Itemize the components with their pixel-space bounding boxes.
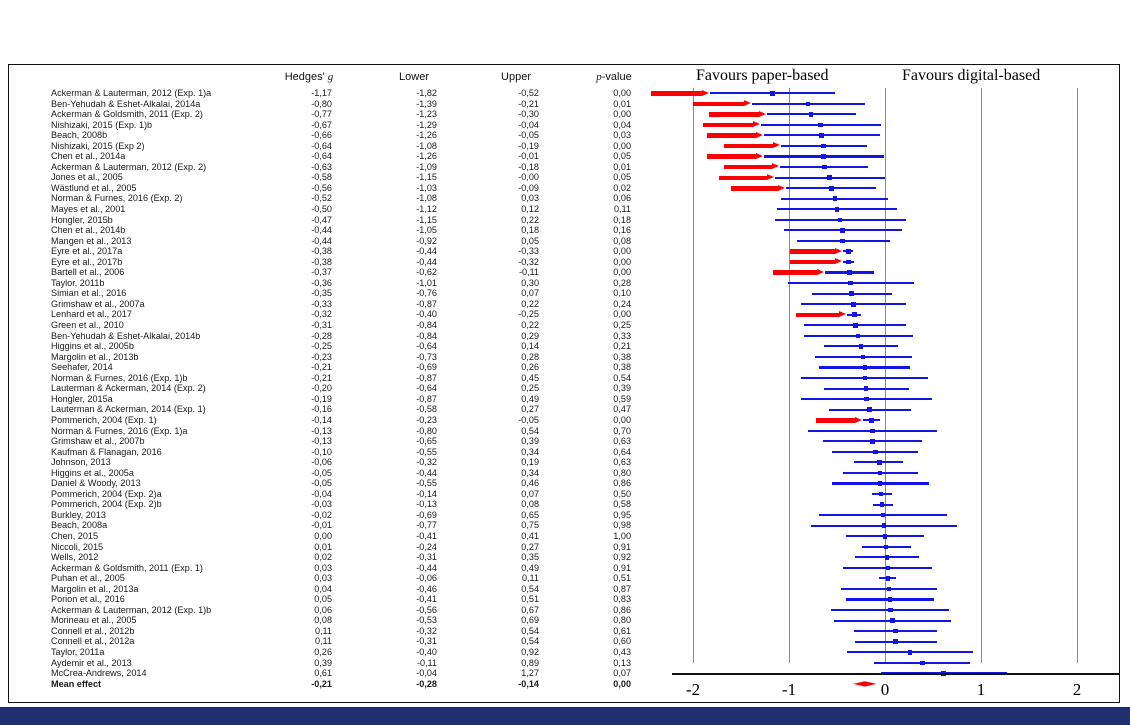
cell-hedges-g: -0,03 (264, 499, 332, 510)
effect-size-marker (867, 407, 872, 412)
x-axis-line (672, 673, 1119, 675)
table-row: Puhan et al., 20050,03-0,060,110,51 (9, 573, 672, 584)
table-row-mean-effect: Mean effect-0,21-0,28-0,140,00 (9, 679, 672, 690)
cell-upper: 0,69 (471, 615, 539, 626)
cell-hedges-g: -1,17 (264, 88, 332, 99)
effect-size-marker (881, 513, 886, 518)
cell-upper: 0,45 (471, 373, 539, 384)
cell-p-value: 0,05 (569, 151, 631, 162)
effect-size-marker (822, 165, 827, 170)
effect-size-marker (886, 576, 891, 581)
effect-size-marker (880, 502, 885, 507)
plot-row (672, 457, 1119, 468)
cell-p-value: 0,00 (569, 267, 631, 278)
cell-lower: -0,92 (369, 236, 437, 247)
cell-hedges-g: -0,37 (264, 267, 332, 278)
plot-row (672, 584, 1119, 595)
cell-upper: 0,11 (471, 573, 539, 584)
cell-upper: 0,41 (471, 531, 539, 542)
table-row: Pommerich, 2004 (Exp. 2)b-0,03-0,130,080… (9, 499, 672, 510)
plot-row-mean-effect (672, 679, 1119, 690)
plot-row (672, 626, 1119, 637)
cell-upper: 0,29 (471, 331, 539, 342)
cell-upper: -0,52 (471, 88, 539, 99)
table-row: Grimshaw et al., 2007b-0,13-0,650,390,63 (9, 436, 672, 447)
study-label: Chen, 2015 (51, 531, 98, 542)
study-label: Grimshaw et al., 2007a (51, 299, 145, 310)
plot-row (672, 478, 1119, 489)
cell-upper: -0,11 (471, 267, 539, 278)
table-row: Margolin et al., 2013a0,04-0,460,540,87 (9, 584, 672, 595)
plot-row (672, 183, 1119, 194)
cell-p-value: 0,18 (569, 215, 631, 226)
plot-row (672, 288, 1119, 299)
table-row: Pommerich, 2004 (Exp. 2)a-0,04-0,140,070… (9, 489, 672, 500)
cell-upper: 0,14 (471, 341, 539, 352)
cell-upper: 0,07 (471, 489, 539, 500)
table-row: Daniel & Woody, 2013-0,05-0,550,460,86 (9, 478, 672, 489)
cell-hedges-g: -0,21 (264, 373, 332, 384)
tick-label: 1 (977, 680, 986, 700)
significance-arrow-icon (773, 269, 824, 276)
study-label: Wästlund et al., 2005 (51, 183, 136, 194)
cell-hedges-g: -0,04 (264, 489, 332, 500)
plot-row (672, 320, 1119, 331)
effect-size-marker (886, 566, 891, 571)
cell-p-value: 0,38 (569, 362, 631, 373)
cell-upper: 0,30 (471, 278, 539, 289)
plot-row (672, 204, 1119, 215)
cell-p-value: 0,54 (569, 373, 631, 384)
study-label: Seehafer, 2014 (51, 362, 113, 373)
study-label: Lauterman & Ackerman, 2014 (Exp. 2) (51, 383, 206, 394)
cell-lower: -1,05 (369, 225, 437, 236)
plot-row (672, 225, 1119, 236)
study-label: Bartell et al., 2006 (51, 267, 124, 278)
cell-p-value: 0,16 (569, 225, 631, 236)
plot-row (672, 99, 1119, 110)
plot-row (672, 278, 1119, 289)
significance-arrow-icon (707, 153, 763, 160)
cell-lower: -0,11 (369, 658, 437, 669)
cell-p-value: 0,05 (569, 172, 631, 183)
cell-lower: -0,58 (369, 404, 437, 415)
cell-hedges-g: -0,13 (264, 436, 332, 447)
table-row: Higgins et al., 2005a-0,05-0,440,340,80 (9, 468, 672, 479)
effect-size-marker (882, 523, 887, 528)
significance-arrow-icon (724, 142, 780, 149)
study-label: Taylor, 2011a (51, 647, 104, 658)
tick-label: 2 (1073, 680, 1082, 700)
study-label: Ackerman & Goldsmith, 2011 (Exp. 1) (51, 563, 203, 574)
plot-row (672, 552, 1119, 563)
table-row: Norman & Furnes, 2016 (Exp. 1)a-0,13-0,8… (9, 426, 672, 437)
plot-row (672, 605, 1119, 616)
plot-row (672, 109, 1119, 120)
study-label: Pommerich, 2004 (Exp. 2)b (51, 499, 162, 510)
favours-paper-label: Favours paper-based (696, 67, 829, 85)
table-row: Ackerman & Lauterman, 2012 (Exp. 1)b0,06… (9, 605, 672, 616)
effect-size-marker (887, 587, 892, 592)
cell-lower: -0,87 (369, 373, 437, 384)
effect-size-marker (818, 123, 823, 128)
cell-hedges-g: -0,50 (264, 204, 332, 215)
plot-row (672, 573, 1119, 584)
table-body: Ackerman & Lauterman, 2012 (Exp. 1)a-1,1… (9, 88, 672, 689)
cell-hedges-g: -0,77 (264, 109, 332, 120)
effect-size-marker (920, 661, 925, 666)
cell-hedges-g: -0,23 (264, 352, 332, 363)
cell-p-value: 0,28 (569, 278, 631, 289)
effect-size-marker (863, 376, 868, 381)
study-label: Johnson, 2013 (51, 457, 111, 468)
study-label: Porion et al., 2016 (51, 594, 125, 605)
study-label: Ben-Yehudah & Eshet-Alkalai, 2014b (51, 331, 200, 342)
cell-p-value: 0,50 (569, 489, 631, 500)
significance-arrow-icon (816, 417, 862, 424)
column-header-p-value: p-value (569, 71, 659, 83)
column-header-lower: Lower (369, 71, 459, 83)
study-label: Higgins et al., 2005b (51, 341, 134, 352)
cell-hedges-g: -0,01 (264, 520, 332, 531)
significance-arrow-icon (703, 121, 760, 128)
cell-hedges-g: -0,05 (264, 478, 332, 489)
study-label: Connell et al., 2012b (51, 626, 134, 637)
study-label: Margolin et al., 2013b (51, 352, 138, 363)
table-row: Green et al., 2010-0,31-0,840,220,25 (9, 320, 672, 331)
table-row: Ackerman & Goldsmith, 2011 (Exp. 2)-0,77… (9, 109, 672, 120)
plot-row (672, 246, 1119, 257)
plot-row (672, 615, 1119, 626)
study-label: Eyre et al., 2017b (51, 257, 122, 268)
plot-row (672, 236, 1119, 247)
table-row: Porion et al., 20160,05-0,410,510,83 (9, 594, 672, 605)
cell-hedges-g: -0,21 (264, 362, 332, 373)
cell-upper: 0,22 (471, 299, 539, 310)
cell-upper: 0,54 (471, 584, 539, 595)
plot-row (672, 531, 1119, 542)
cell-p-value: 0,01 (569, 99, 631, 110)
table-row: Higgins et al., 2005b-0,25-0,640,140,21 (9, 341, 672, 352)
cell-hedges-g: 0,39 (264, 658, 332, 669)
cell-lower: -0,77 (369, 520, 437, 531)
cell-lower: -0,65 (369, 436, 437, 447)
plot-row (672, 510, 1119, 521)
cell-upper: 0,22 (471, 320, 539, 331)
slide-footer-bar (0, 707, 1130, 725)
cell-p-value: 0,13 (569, 658, 631, 669)
cell-upper: -0,33 (471, 246, 539, 257)
cell-p-value: 0,00 (569, 309, 631, 320)
effect-size-marker (852, 312, 857, 317)
title-bar: Effect sizes: Between-participants desig… (0, 0, 1130, 62)
cell-lower: -1,29 (369, 120, 437, 131)
table-row: Johnson, 2013-0,06-0,320,190,63 (9, 457, 672, 468)
confidence-interval-series (672, 88, 1119, 689)
cell-upper: -0,01 (471, 151, 539, 162)
tick-label: 0 (881, 680, 890, 700)
plot-row (672, 352, 1119, 363)
effect-size-marker (863, 365, 868, 370)
study-label: Ackerman & Lauterman, 2012 (Exp. 1)b (51, 605, 211, 616)
cell-p-value: 0,00 (569, 679, 631, 690)
table-row: Nishizaki, 2015 (Exp 2)-0,64-1,08-0,190,… (9, 141, 672, 152)
cell-hedges-g: 0,02 (264, 552, 332, 563)
cell-p-value: 0,80 (569, 468, 631, 479)
cell-p-value: 0,92 (569, 552, 631, 563)
effect-size-marker (848, 281, 853, 286)
table-row: Hongler, 2015a-0,19-0,870,490,59 (9, 394, 672, 405)
cell-hedges-g: -0,32 (264, 309, 332, 320)
cell-hedges-g: 0,61 (264, 668, 332, 679)
cell-upper: 0,27 (471, 542, 539, 553)
cell-upper: 0,35 (471, 552, 539, 563)
cell-p-value: 0,07 (569, 668, 631, 679)
cell-hedges-g: -0,44 (264, 236, 332, 247)
cell-lower: -0,41 (369, 594, 437, 605)
cell-upper: 0,25 (471, 383, 539, 394)
cell-upper: -0,21 (471, 99, 539, 110)
cell-lower: -0,73 (369, 352, 437, 363)
significance-arrow-icon (719, 174, 774, 181)
cell-p-value: 0,91 (569, 563, 631, 574)
cell-lower: -0,62 (369, 267, 437, 278)
plot-row (672, 120, 1119, 131)
table-row: Kaufman & Flanagan, 2016-0,10-0,550,340,… (9, 447, 672, 458)
study-label: Chen et al., 2014b (51, 225, 125, 236)
table-row: Chen, 20150,00-0,410,411,00 (9, 531, 672, 542)
plot-row (672, 468, 1119, 479)
cell-hedges-g: -0,05 (264, 468, 332, 479)
study-label: Lauterman & Ackerman, 2014 (Exp. 1) (51, 404, 206, 415)
table-row: Wästlund et al., 2005-0,56-1,03-0,090,02 (9, 183, 672, 194)
cell-lower: -0,53 (369, 615, 437, 626)
cell-p-value: 0,24 (569, 299, 631, 310)
cell-lower: -0,40 (369, 309, 437, 320)
table-row: Ackerman & Lauterman, 2012 (Exp. 2)-0,63… (9, 162, 672, 173)
cell-lower: -0,40 (369, 647, 437, 658)
cell-upper: 0,75 (471, 520, 539, 531)
effect-size-marker (873, 450, 878, 455)
cell-upper: -0,32 (471, 257, 539, 268)
table-row: Simian et al., 2016-0,35-0,760,070,10 (9, 288, 672, 299)
cell-upper: 0,49 (471, 563, 539, 574)
cell-lower: -0,56 (369, 605, 437, 616)
cell-upper: -0,19 (471, 141, 539, 152)
study-label: Ben-Yehudah & Eshet-Alkalai, 2014a (51, 99, 200, 110)
plot-direction-labels: Favours paper-based Favours digital-base… (672, 67, 1119, 89)
cell-upper: -0,14 (471, 679, 539, 690)
cell-lower: -0,84 (369, 331, 437, 342)
cell-hedges-g: -0,33 (264, 299, 332, 310)
plot-row (672, 193, 1119, 204)
effect-size-marker (827, 175, 832, 180)
study-label: Beach, 2008a (51, 520, 107, 531)
plot-row (672, 499, 1119, 510)
plot-row (672, 331, 1119, 342)
significance-arrow-icon (790, 248, 842, 255)
plot-row (672, 257, 1119, 268)
cell-upper: 0,54 (471, 426, 539, 437)
table-row: Wells, 20120,02-0,310,350,92 (9, 552, 672, 563)
cell-lower: -0,14 (369, 489, 437, 500)
table-row: Bartell et al., 2006-0,37-0,62-0,110,00 (9, 267, 672, 278)
column-header-hedges-g: Hedges' g (264, 71, 354, 83)
study-label: McCrea-Andrews, 2014 (51, 668, 147, 679)
study-label: Grimshaw et al., 2007b (51, 436, 145, 447)
cell-p-value: 0,47 (569, 404, 631, 415)
cell-p-value: 0,33 (569, 331, 631, 342)
cell-hedges-g: -0,38 (264, 257, 332, 268)
study-label: Puhan et al., 2005 (51, 573, 125, 584)
effect-size-marker (885, 555, 890, 560)
effect-size-marker (859, 344, 864, 349)
study-label: Norman & Furnes, 2016 (Exp. 2) (51, 193, 182, 204)
study-label: Wells, 2012 (51, 552, 98, 563)
cell-hedges-g: 0,11 (264, 636, 332, 647)
cell-upper: 0,51 (471, 594, 539, 605)
table-row: Ben-Yehudah & Eshet-Alkalai, 2014b-0,28-… (9, 331, 672, 342)
cell-hedges-g: -0,36 (264, 278, 332, 289)
plot-row (672, 373, 1119, 384)
plot-row (672, 436, 1119, 447)
cell-hedges-g: -0,35 (264, 288, 332, 299)
cell-hedges-g: -0,31 (264, 320, 332, 331)
effect-size-marker (856, 334, 861, 339)
table-row: Lenhard et al., 2017-0,32-0,40-0,250,00 (9, 309, 672, 320)
cell-lower: -0,31 (369, 636, 437, 647)
cell-hedges-g: 0,00 (264, 531, 332, 542)
plot-row (672, 215, 1119, 226)
effect-size-marker (888, 597, 893, 602)
cell-upper: 0,54 (471, 626, 539, 637)
cell-hedges-g: -0,02 (264, 510, 332, 521)
table-row: Eyre et al., 2017a-0,38-0,44-0,330,00 (9, 246, 672, 257)
cell-lower: -1,03 (369, 183, 437, 194)
plot-row (672, 647, 1119, 658)
study-label: Nishizaki, 2015 (Exp. 1)b (51, 120, 152, 131)
plot-row (672, 141, 1119, 152)
cell-p-value: 0,01 (569, 162, 631, 173)
cell-hedges-g: -0,10 (264, 447, 332, 458)
effect-size-marker (877, 460, 882, 465)
cell-lower: -1,09 (369, 162, 437, 173)
effect-size-marker (846, 249, 851, 254)
cell-upper: -0,30 (471, 109, 539, 120)
table-row: Seehafer, 2014-0,21-0,690,260,38 (9, 362, 672, 373)
study-label: Pommerich, 2004 (Exp. 2)a (51, 489, 162, 500)
study-label: Niccoli, 2015 (51, 542, 103, 553)
cell-p-value: 0,00 (569, 141, 631, 152)
study-label: Mangen et al., 2013 (51, 236, 131, 247)
cell-hedges-g: 0,05 (264, 594, 332, 605)
cell-lower: -0,06 (369, 573, 437, 584)
cell-hedges-g: 0,01 (264, 542, 332, 553)
cell-lower: -1,26 (369, 151, 437, 162)
significance-arrow-icon (651, 90, 709, 97)
study-label: Ackerman & Goldsmith, 2011 (Exp. 2) (51, 109, 203, 120)
cell-lower: -0,32 (369, 457, 437, 468)
table-row: Grimshaw et al., 2007a-0,33-0,870,220,24 (9, 299, 672, 310)
cell-upper: 0,28 (471, 352, 539, 363)
plot-row (672, 362, 1119, 373)
cell-lower: -0,32 (369, 626, 437, 637)
plot-row (672, 309, 1119, 320)
cell-hedges-g: -0,56 (264, 183, 332, 194)
study-label: Simian et al., 2016 (51, 288, 126, 299)
cell-lower: -1,08 (369, 193, 437, 204)
cell-lower: -0,87 (369, 299, 437, 310)
plot-row (672, 563, 1119, 574)
effect-size-marker (890, 618, 895, 623)
effect-size-marker (884, 545, 889, 550)
study-label: Hongler, 2015a (51, 394, 113, 405)
cell-hedges-g: -0,52 (264, 193, 332, 204)
cell-lower: -0,44 (369, 257, 437, 268)
cell-p-value: 0,86 (569, 478, 631, 489)
effect-size-marker (840, 228, 845, 233)
study-label: Pommerich, 2004 (Exp. 1) (51, 415, 157, 426)
cell-lower: -1,15 (369, 172, 437, 183)
plot-row (672, 404, 1119, 415)
table-row: Lauterman & Ackerman, 2014 (Exp. 2)-0,20… (9, 383, 672, 394)
cell-lower: -0,41 (369, 531, 437, 542)
table-row: Taylor, 2011b-0,36-1,010,300,28 (9, 278, 672, 289)
plot-row (672, 88, 1119, 99)
cell-upper: 1,27 (471, 668, 539, 679)
effect-size-marker (878, 471, 883, 476)
plot-row (672, 636, 1119, 647)
significance-arrow-icon (724, 163, 779, 170)
table-row: Taylor, 2011a0,26-0,400,920,43 (9, 647, 672, 658)
effect-size-marker (770, 91, 775, 96)
cell-upper: 0,39 (471, 436, 539, 447)
study-label: Connell et al., 2012a (51, 636, 134, 647)
cell-hedges-g: -0,28 (264, 331, 332, 342)
study-label: Kaufman & Flanagan, 2016 (51, 447, 162, 458)
cell-upper: 0,49 (471, 394, 539, 405)
cell-upper: 0,67 (471, 605, 539, 616)
table-row: Lauterman & Ackerman, 2014 (Exp. 1)-0,16… (9, 404, 672, 415)
cell-p-value: 0,00 (569, 246, 631, 257)
cell-p-value: 0,87 (569, 584, 631, 595)
cell-hedges-g: -0,67 (264, 120, 332, 131)
cell-upper: -0,09 (471, 183, 539, 194)
cell-lower: -1,08 (369, 141, 437, 152)
table-row: Chen et al., 2014a-0,64-1,26-0,010,05 (9, 151, 672, 162)
effect-size-marker (893, 629, 898, 634)
cell-lower: -0,84 (369, 320, 437, 331)
cell-lower: -0,44 (369, 563, 437, 574)
cell-p-value: 0,06 (569, 193, 631, 204)
cell-hedges-g: -0,20 (264, 383, 332, 394)
study-label: Norman & Furnes, 2016 (Exp. 1)b (51, 373, 187, 384)
cell-lower: -0,13 (369, 499, 437, 510)
plot-row (672, 299, 1119, 310)
study-label: Hongler, 2015b (51, 215, 113, 226)
effect-size-marker (853, 323, 858, 328)
cell-lower: -0,55 (369, 447, 437, 458)
cell-lower: -0,69 (369, 362, 437, 373)
cell-upper: -0,18 (471, 162, 539, 173)
effect-size-marker (851, 302, 856, 307)
plot-row (672, 383, 1119, 394)
cell-hedges-g: 0,03 (264, 563, 332, 574)
cell-upper: 0,07 (471, 288, 539, 299)
effect-size-marker (833, 196, 838, 201)
cell-p-value: 0,00 (569, 109, 631, 120)
effect-size-marker (821, 154, 826, 159)
